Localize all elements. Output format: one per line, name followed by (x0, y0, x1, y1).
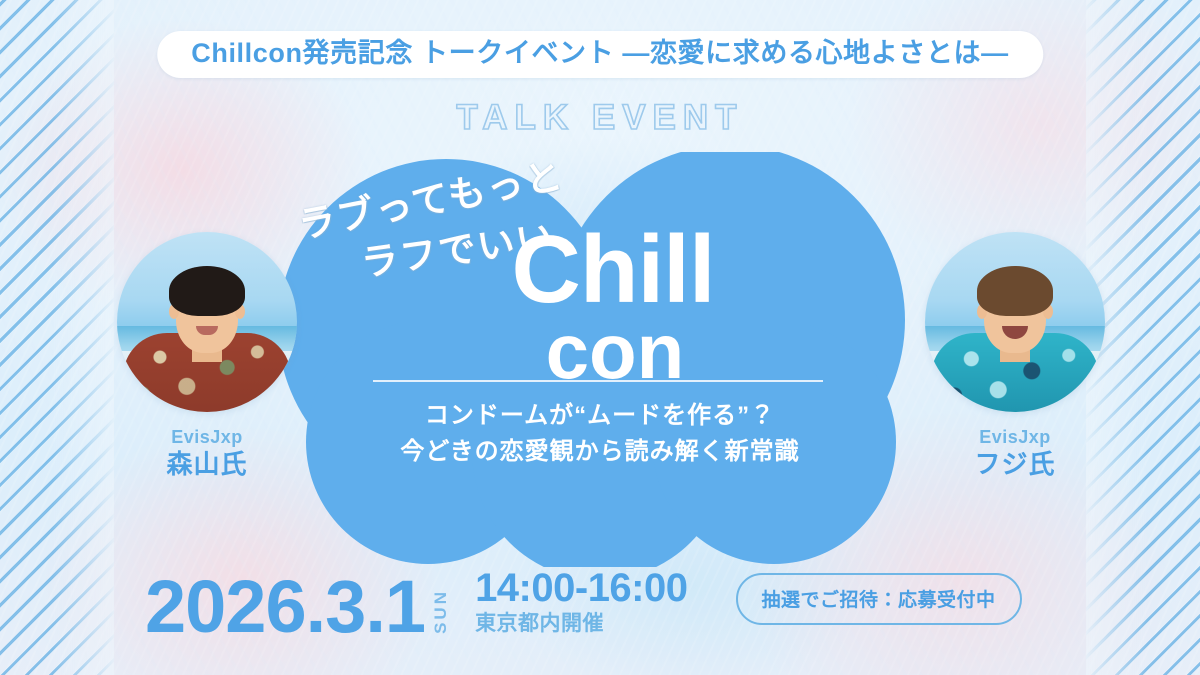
cloud-shape (278, 152, 922, 567)
event-venue: 東京都内開催 (475, 611, 687, 637)
event-banner: Chillcon発売記念 トークイベント ―恋愛に求める心地よさとは― TALK… (0, 0, 1200, 675)
apply-badge-label: 抽選でご招待：応募受付中 (762, 590, 996, 611)
speaker-card-left: EvisJxp 森山氏 (117, 232, 297, 480)
subtitle-line-2: 今どきの恋愛観から読み解く新常識 (278, 434, 922, 470)
schedule-band: 2026.3.1 SUN 14:00-16:00 東京都内開催 抽選でご招待：応… (145, 567, 1022, 639)
event-day-of-week: SUN (432, 589, 449, 634)
diagonal-stripes-left (0, 0, 114, 675)
speaker-portrait-right (925, 232, 1105, 412)
portrait-hair-right (977, 266, 1053, 316)
subtitle-line-1: コンドームが“ムードを作る”？ (278, 398, 922, 434)
time-venue-block: 14:00-16:00 東京都内開催 (475, 567, 687, 637)
speaker-org-left: EvisJxp (117, 426, 297, 449)
logo-divider-rule (373, 380, 823, 382)
speaker-name-right: フジ氏 (925, 449, 1105, 480)
speaker-portrait-left (117, 232, 297, 412)
event-subtitle: コンドームが“ムードを作る”？ 今どきの恋愛観から読み解く新常識 (278, 398, 922, 470)
speaker-name-left: 森山氏 (117, 449, 297, 480)
apply-badge[interactable]: 抽選でご招待：応募受付中 (736, 573, 1022, 625)
event-date: 2026.3.1 (145, 574, 425, 639)
event-title-text: Chillcon発売記念 トークイベント ―恋愛に求める心地よさとは― (191, 40, 1009, 67)
event-title-pill: Chillcon発売記念 トークイベント ―恋愛に求める心地よさとは― (157, 31, 1043, 78)
speaker-card-right: EvisJxp フジ氏 (925, 232, 1105, 480)
portrait-hair-left (169, 266, 245, 316)
talk-event-eyebrow: TALK EVENT (456, 100, 743, 135)
speaker-org-right: EvisJxp (925, 426, 1105, 449)
event-time: 14:00-16:00 (475, 567, 687, 609)
